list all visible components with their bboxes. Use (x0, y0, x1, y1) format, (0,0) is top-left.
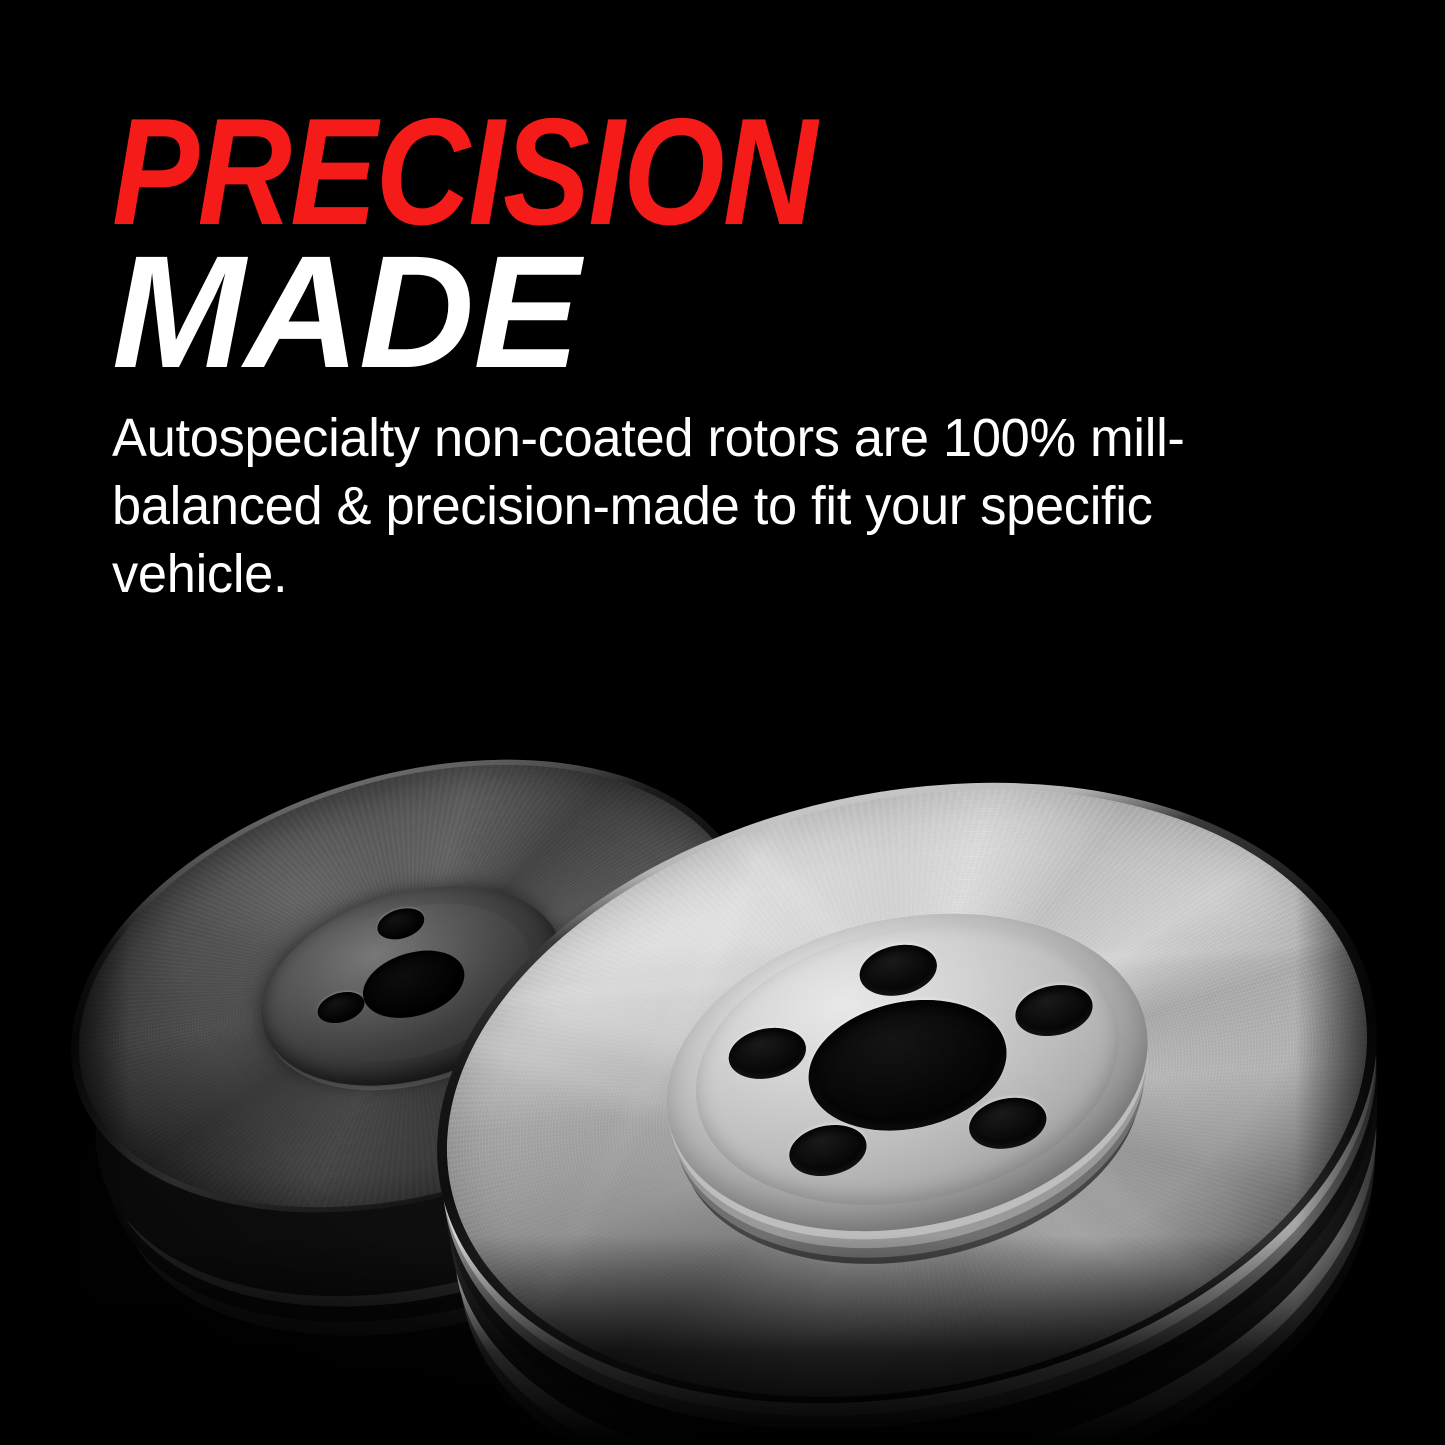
body-copy: Autospecialty non-coated rotors are 100%… (112, 404, 1218, 608)
headline-line-made: MADE (112, 243, 930, 381)
product-banner: PRECISION MADE Autospecialty non-coated … (0, 0, 1445, 1445)
headline: PRECISION MADE (112, 108, 930, 381)
headline-line-precision: PRECISION (112, 108, 816, 237)
